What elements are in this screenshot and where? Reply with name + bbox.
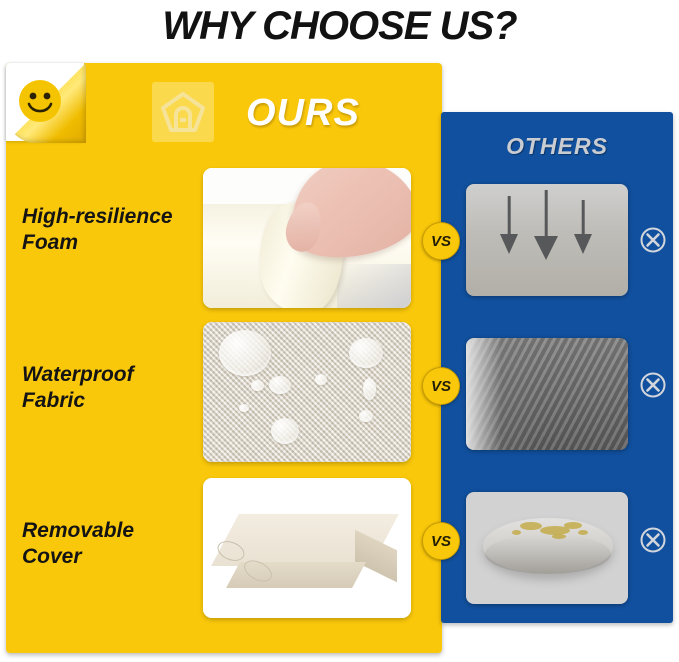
ours-feature-label-2: Waterproof Fabric [22,362,202,413]
others-item-image-3 [466,492,628,604]
ours-feature-image-2 [203,322,411,462]
vs-badge-1: VS [422,222,460,260]
infographic-canvas: WHY CHOOSE US? [0,0,679,662]
page-title: WHY CHOOSE US? [0,0,679,52]
ours-heading: OURS [246,92,360,135]
water-droplets-on-fabric-photo [203,322,411,462]
others-item-image-2 [466,338,628,450]
ours-feature-image-3 [203,478,411,618]
vs-badge-2: VS [422,367,460,405]
x-circle-icon-1 [639,226,667,254]
x-circle-icon-2 [639,371,667,399]
stained-round-cushion-photo [466,492,628,604]
vs-badge-3: VS [422,522,460,560]
house-pentagon-logo-icon [152,82,214,142]
others-item-image-1 [466,184,628,296]
wet-stained-fabric-photo [466,338,628,450]
ours-feature-label-3: Removable Cover [22,518,202,569]
compressed-fiber-arrows-photo [466,184,628,296]
square-cushion-with-ties-photo [203,478,411,618]
smiley-face-icon [17,78,63,124]
x-circle-icon-3 [639,526,667,554]
ours-feature-image-1 [203,168,411,308]
hand-pinching-foam-photo [203,168,411,308]
others-heading: OTHERS [441,133,673,160]
ours-feature-label-1: High-resilience Foam [22,204,202,255]
